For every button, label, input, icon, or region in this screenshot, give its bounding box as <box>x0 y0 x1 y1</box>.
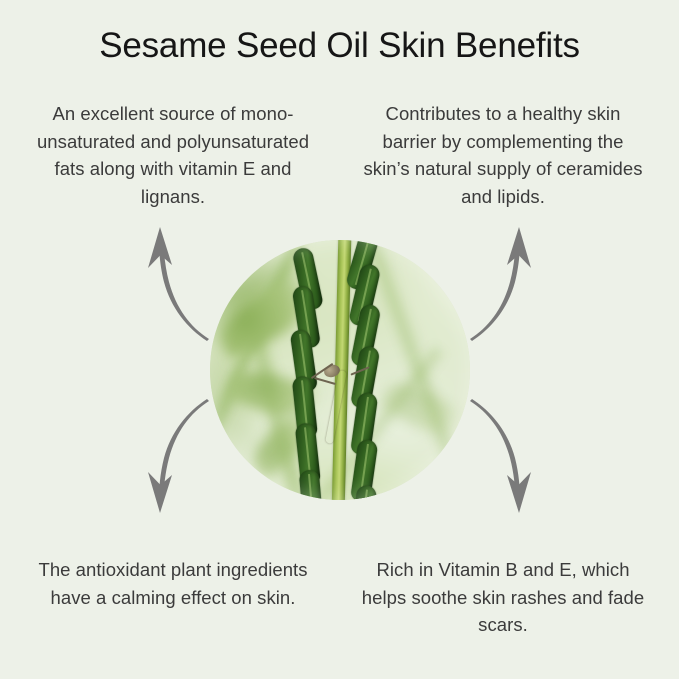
benefit-text-bottom-right: Rich in Vitamin B and E, which helps soo… <box>358 556 648 639</box>
benefit-text-top-right: Contributes to a healthy skin barrier by… <box>358 100 648 210</box>
arrow-up-left-icon <box>133 224 225 342</box>
benefit-text-bottom-left: The antioxidant plant ingredients have a… <box>28 556 318 611</box>
arrow-up-right-icon <box>454 224 546 342</box>
photo-inner <box>210 240 470 500</box>
arrow-down-left-icon <box>133 398 225 516</box>
arrow-down-right-icon <box>454 398 546 516</box>
infographic-root: Sesame Seed Oil Skin Benefits An excelle… <box>0 0 679 679</box>
benefit-text-top-left: An excellent source of mono-unsaturated … <box>28 100 318 210</box>
page-title: Sesame Seed Oil Skin Benefits <box>0 24 679 68</box>
sesame-plant-photo <box>210 240 470 500</box>
